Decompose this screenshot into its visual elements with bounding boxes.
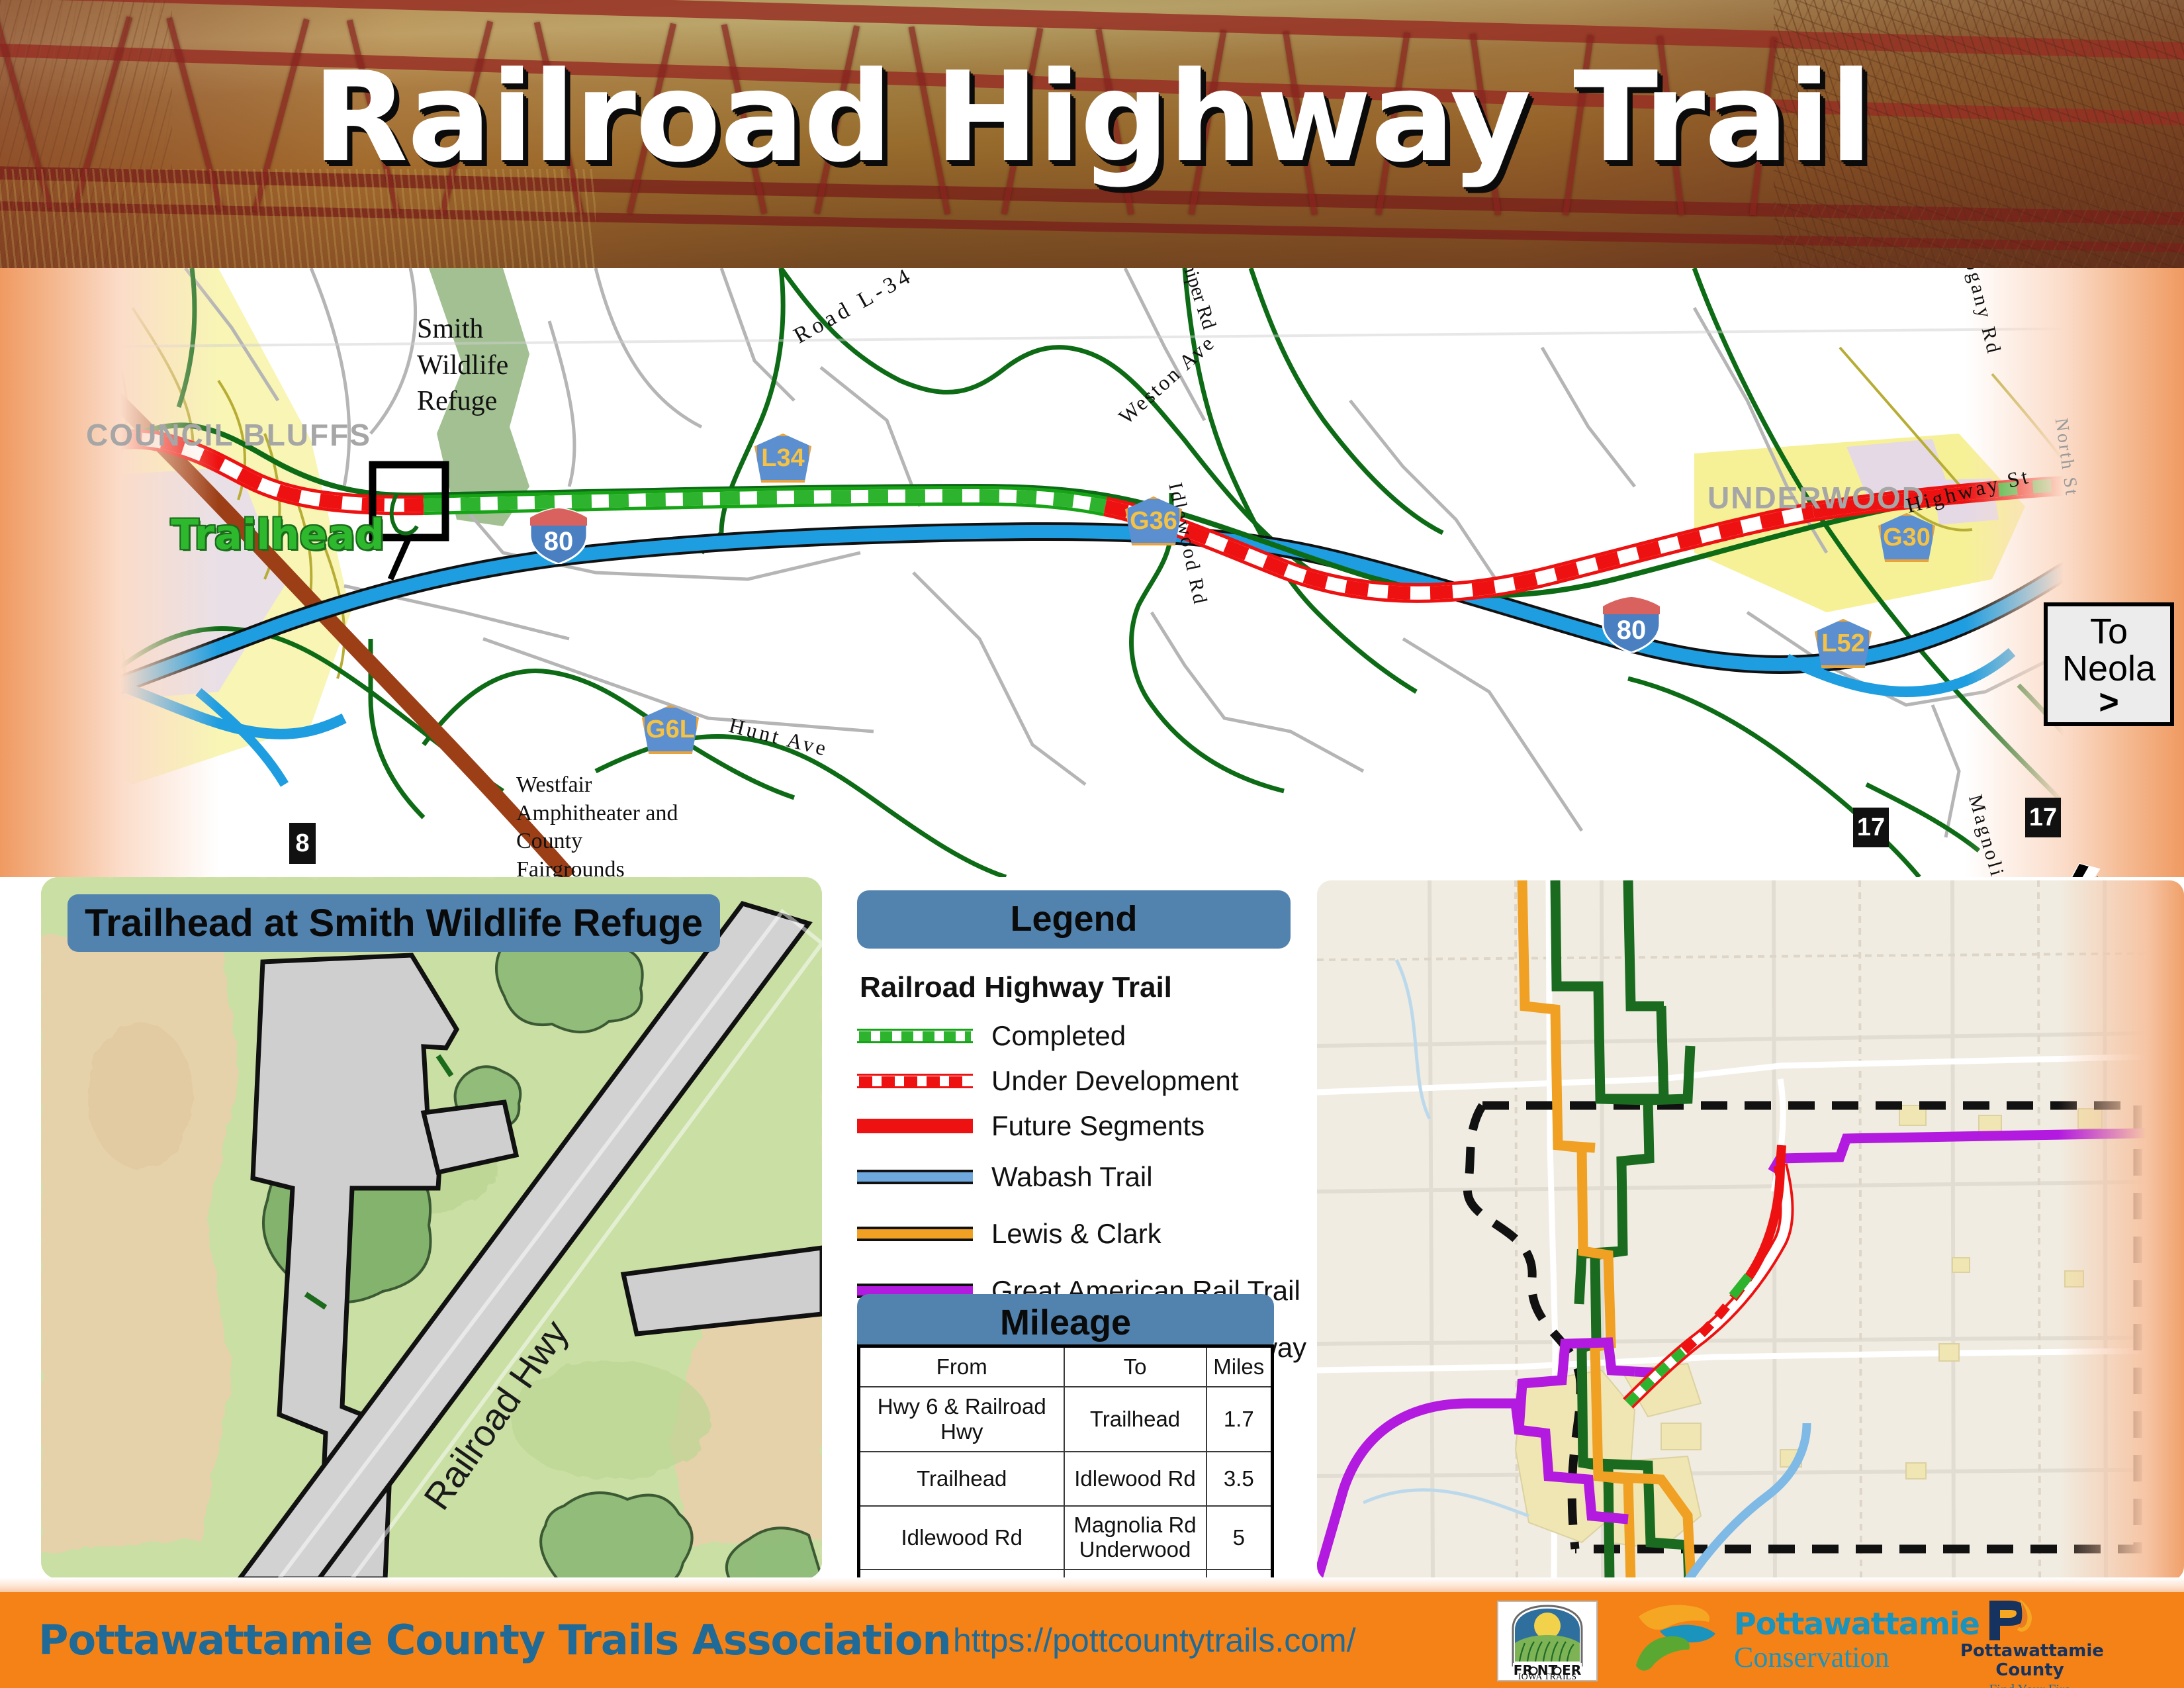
poster-root: Railroad Highway Trail (0, 0, 2184, 1688)
mileage-panel: Mileage From To Miles Hwy 6 & Railroad H… (857, 1294, 1274, 1625)
interstate-shield-80-west[interactable]: 80 (527, 508, 590, 564)
legend-label-future-segments: Future Segments (991, 1110, 1205, 1142)
mileage-miles: 3.5 (1206, 1452, 1273, 1506)
association-name: Pottawattamie County Trails Association (38, 1616, 951, 1664)
mileage-header-row: From To Miles (859, 1346, 1273, 1387)
place-label-smith-wildlife-refuge: Smith Wildlife Refuge (417, 311, 536, 420)
to-neola-sign[interactable]: To Neola > (2044, 602, 2174, 726)
interstate-number-80-west: 80 (527, 527, 590, 557)
north-arrow-icon: N (1906, 837, 2105, 877)
map-left-fade (0, 268, 218, 877)
legend-swatch-wabash-trail (857, 1166, 973, 1188)
mileage-from: Trailhead (859, 1452, 1064, 1506)
legend-item-under-development[interactable]: Under Development (857, 1058, 1291, 1103)
legend-item-lewis-clark[interactable]: Lewis & Clark (857, 1205, 1291, 1262)
legend-swatch-completed (857, 1025, 973, 1047)
mileage-from: Hwy 6 & Railroad Hwy (859, 1387, 1064, 1452)
header-banner: Railroad Highway Trail (0, 0, 2184, 268)
mileage-to: Idlewood Rd (1064, 1452, 1206, 1506)
table-row: Hwy 6 & Railroad Hwy Trailhead 1.7 (859, 1387, 1273, 1452)
to-neola-line2: Neola (2062, 650, 2156, 687)
mileage-col-to: To (1064, 1346, 1206, 1387)
table-row: Idlewood Rd Magnolia Rd Underwood 5 (859, 1506, 1273, 1570)
page-title: Railroad Highway Trail (0, 56, 2184, 180)
place-label-westfair: Westfair Amphitheater and County Fairgro… (516, 771, 695, 877)
frontier-iowa-trails-logo: FR NT ER IOWA TRAILS (1497, 1601, 1598, 1681)
pottawattamie-county-logo: Pottawattamie County Find Your Fire (1931, 1601, 2097, 1684)
legend-label-completed: Completed (991, 1020, 1126, 1052)
county-map-graphics (1317, 880, 2184, 1581)
mileage-col-from: From (859, 1346, 1064, 1387)
frontier-logo-text-2: IOWA TRAILS (1518, 1672, 1576, 1680)
main-map-graphics (0, 268, 2184, 877)
county-logo-line1: Pottawattamie County (1960, 1642, 2099, 1680)
main-trail-map[interactable]: COUNCIL BLUFFS UNDERWOOD Smith Wildlife … (0, 268, 2184, 877)
city-label-council-bluffs: COUNCIL BLUFFS (86, 417, 371, 453)
county-map-right-fade (2058, 880, 2184, 1581)
county-flame-p-icon (1983, 1598, 2044, 1640)
state-route-marker-17-east[interactable]: 17 (2025, 798, 2061, 837)
legend-label-under-development: Under Development (991, 1065, 1239, 1097)
legend-item-completed[interactable]: Completed (857, 1013, 1291, 1058)
legend-label-lewis-clark: Lewis & Clark (991, 1218, 1161, 1250)
interstate-shield-80-east[interactable]: 80 (1600, 597, 1662, 653)
website-url[interactable]: https://pottcountytrails.com/ (953, 1621, 1356, 1660)
conservation-logo-line2: Conservation (1734, 1640, 1889, 1674)
state-route-marker-17-west[interactable]: 17 (1853, 808, 1889, 847)
table-row: Trailhead Idlewood Rd 3.5 (859, 1452, 1273, 1506)
legend-item-wabash-trail[interactable]: Wabash Trail (857, 1149, 1291, 1205)
map-right-fade (1966, 268, 2184, 877)
county-logo-line2: Find Your Fire (1960, 1681, 2099, 1688)
trailhead-callout: Trailhead (171, 510, 385, 559)
legend-subtitle: Railroad Highway Trail (860, 971, 1291, 1004)
county-overview-map[interactable] (1317, 880, 2184, 1581)
mileage-to: Magnolia Rd Underwood (1064, 1506, 1206, 1570)
inset-title: Trailhead at Smith Wildlife Refuge (68, 894, 720, 952)
trailhead-inset-map[interactable]: Trailhead at Smith Wildlife Refuge Railr… (41, 877, 822, 1579)
legend-swatch-future-segments (857, 1115, 973, 1137)
mileage-to: Trailhead (1064, 1387, 1206, 1452)
city-label-underwood: UNDERWOOD (1707, 480, 1925, 516)
mileage-title: Mileage (857, 1294, 1274, 1352)
mileage-miles: 5 (1206, 1506, 1273, 1570)
footer-top-fade (0, 1577, 2184, 1592)
to-neola-arrow-icon: > (2062, 687, 2156, 718)
legend-title: Legend (857, 890, 1291, 949)
mileage-miles: 1.7 (1206, 1387, 1273, 1452)
pottawattamie-conservation-logo: Pottawattamie Conservation (1633, 1602, 1911, 1681)
legend-item-future-segments[interactable]: Future Segments (857, 1103, 1291, 1149)
legend-swatch-under-development (857, 1070, 973, 1092)
exit-marker-8[interactable]: 8 (289, 823, 316, 864)
legend-label-wabash-trail: Wabash Trail (991, 1161, 1153, 1193)
to-neola-line1: To (2062, 613, 2156, 650)
mileage-from: Idlewood Rd (859, 1506, 1064, 1570)
conservation-leaf-icon (1633, 1602, 1733, 1679)
legend-swatch-lewis-clark (857, 1223, 973, 1245)
mileage-col-miles: Miles (1206, 1346, 1273, 1387)
interstate-number-80-east: 80 (1600, 616, 1662, 645)
